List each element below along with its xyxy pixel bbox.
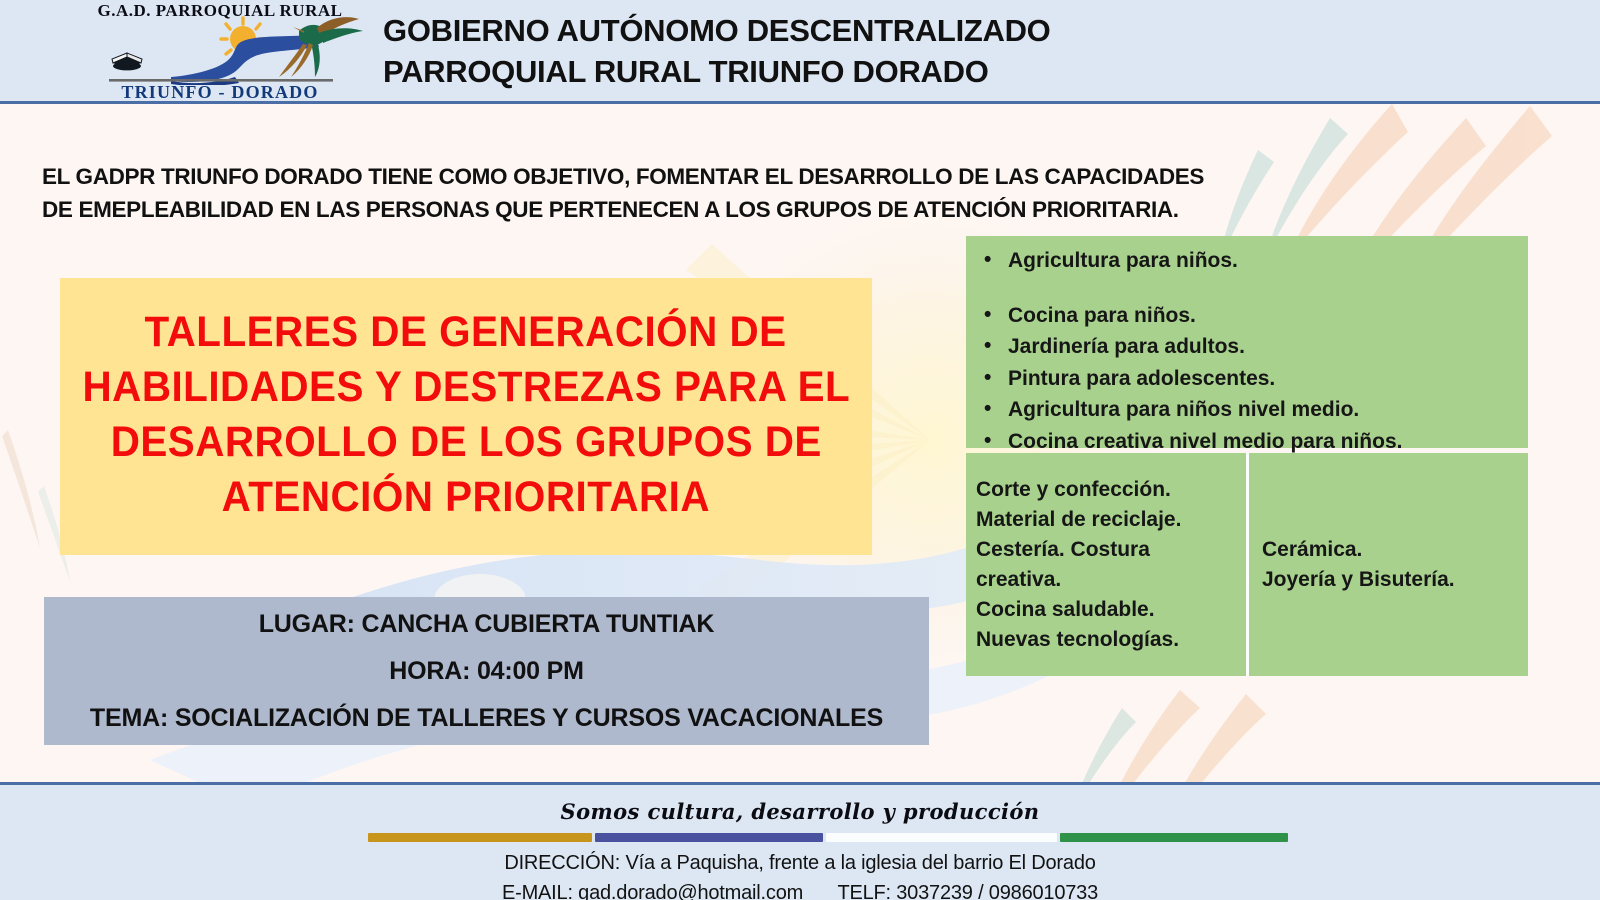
workshops-list-panel: Agricultura para niños. Cocina para niño…	[966, 236, 1528, 448]
table-line: Corte y confección.	[976, 475, 1246, 505]
list-item: Cocina para niños.	[978, 300, 1518, 332]
event-place: LUGAR: CANCHA CUBIERTA TUNTIAK	[259, 601, 715, 648]
color-bar-gold	[368, 833, 592, 842]
table-cell-right: Cerámica. Joyería y Bisutería.	[1246, 453, 1528, 676]
event-topic: TEMA: SOCIALIZACIÓN DE TALLERES Y CURSOS…	[90, 695, 883, 742]
list-item: Agricultura para niños nivel medio.	[978, 394, 1518, 426]
logo-bottom-text: TRIUNFO - DORADO	[75, 82, 365, 103]
table-line: Cestería. Costura	[976, 535, 1246, 565]
main-title-line3: DESARROLLO DE LOS GRUPOS DE	[110, 415, 821, 470]
table-line: Material de reciclaje.	[976, 505, 1246, 535]
table-line: Joyería y Bisutería.	[1262, 565, 1528, 595]
footer-phone: TELF: 3037239 / 0986010733	[837, 882, 1098, 900]
workshops-table-panel: Corte y confección. Material de reciclaj…	[966, 453, 1528, 676]
footer-color-bars	[368, 833, 1288, 842]
footer-slogan: Somos cultura, desarrollo y producción	[0, 799, 1600, 824]
workshops-list: Agricultura para niños. Cocina para niño…	[978, 245, 1518, 457]
header-title-line2: PARROQUIAL RURAL TRIUNFO DORADO	[383, 51, 1600, 92]
main-title-line1: TALLERES DE GENERACIÓN DE	[145, 305, 787, 360]
poster-canvas: G.A.D. PARROQUIAL RURAL	[0, 0, 1600, 900]
header-title: GOBIERNO AUTÓNOMO DESCENTRALIZADO PARROQ…	[383, 10, 1600, 92]
objective-line2: DE EMEPLEABILIDAD EN LAS PERSONAS QUE PE…	[42, 193, 1332, 226]
institution-logo: G.A.D. PARROQUIAL RURAL	[75, 0, 365, 103]
footer-address: DIRECCIÓN: Vía a Paquisha, frente a la i…	[0, 848, 1600, 878]
footer-contact-line: E-MAIL: gad.dorado@hotmail.com TELF: 303…	[0, 878, 1600, 900]
event-time: HORA: 04:00 PM	[389, 648, 583, 695]
footer-contact: DIRECCIÓN: Vía a Paquisha, frente a la i…	[0, 848, 1600, 900]
table-line: Cocina saludable.	[976, 595, 1246, 625]
event-details-card: LUGAR: CANCHA CUBIERTA TUNTIAK HORA: 04:…	[44, 597, 929, 745]
hummingbird-sun-river-icon	[75, 13, 365, 85]
footer-band: Somos cultura, desarrollo y producción D…	[0, 782, 1600, 900]
table-line: creativa.	[976, 565, 1246, 595]
color-bar-white	[826, 833, 1057, 842]
main-title-line4: ATENCIÓN PRIORITARIA	[222, 470, 710, 525]
table-cell-left: Corte y confección. Material de reciclaj…	[966, 453, 1246, 676]
color-bar-green	[1060, 833, 1288, 842]
objective-line1: EL GADPR TRIUNFO DORADO TIENE COMO OBJET…	[42, 160, 1332, 193]
list-item: Agricultura para niños.	[978, 245, 1518, 277]
header-title-line1: GOBIERNO AUTÓNOMO DESCENTRALIZADO	[383, 10, 1600, 51]
list-item: Jardinería para adultos.	[978, 331, 1518, 363]
objective-statement: EL GADPR TRIUNFO DORADO TIENE COMO OBJET…	[42, 160, 1332, 226]
main-title-line2: HABILIDADES Y DESTREZAS PARA EL	[82, 360, 850, 415]
list-item: Pintura para adolescentes.	[978, 363, 1518, 395]
table-line: Nuevas tecnologías.	[976, 625, 1246, 655]
footer-email: E-MAIL: gad.dorado@hotmail.com	[502, 882, 803, 900]
color-bar-blue	[595, 833, 822, 842]
table-line: Cerámica.	[1262, 535, 1528, 565]
header-band: G.A.D. PARROQUIAL RURAL	[0, 0, 1600, 104]
main-title-card: TALLERES DE GENERACIÓN DE HABILIDADES Y …	[60, 278, 872, 555]
